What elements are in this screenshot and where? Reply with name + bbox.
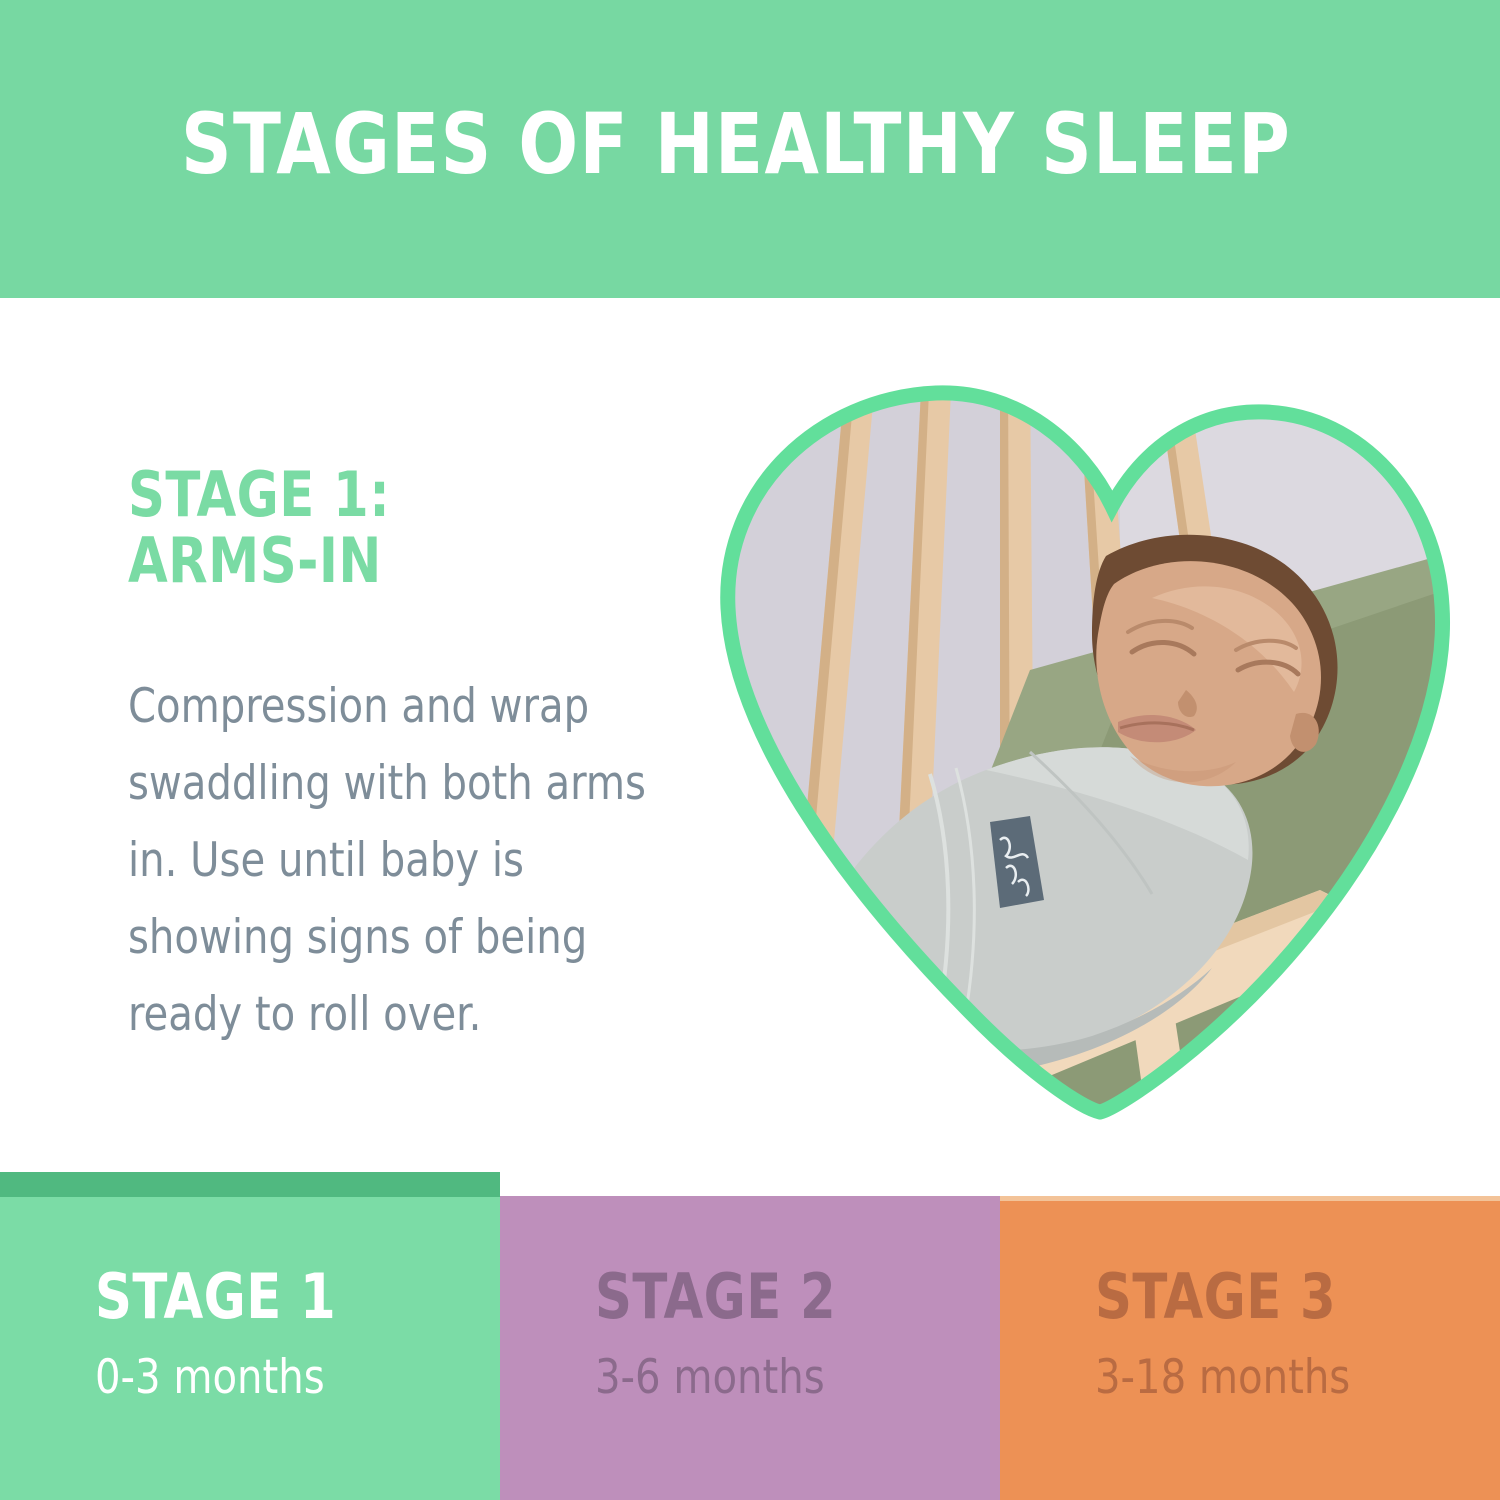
heart-photo (700, 370, 1460, 1130)
stage-1-content: STAGE 1 0-3 months (95, 1264, 357, 1406)
stage-heading: STAGE 1: ARMS-IN (128, 462, 643, 594)
stage-bar-column-stage-3[interactable]: STAGE 3 3-18 months (1000, 1196, 1500, 1500)
page-title: STAGES OF HEALTHY SLEEP (181, 96, 1278, 192)
header-band: STAGES OF HEALTHY SLEEP (0, 0, 1500, 298)
stage-2-content: STAGE 2 3-6 months (595, 1264, 857, 1406)
stage-3-content: STAGE 3 3-18 months (1095, 1264, 1364, 1406)
stage-1-active-strip (0, 1172, 500, 1197)
photo-content (700, 370, 1460, 1130)
stage-1-age-range: 0-3 months (95, 1350, 344, 1406)
stage-3-age-range: 3-18 months (1095, 1350, 1350, 1406)
stage-bar-column-stage-1[interactable]: STAGE 1 0-3 months (0, 1172, 500, 1500)
infographic-page: STAGES OF HEALTHY SLEEP STAGE 1: ARMS-IN… (0, 0, 1500, 1500)
stage-2-title: STAGE 2 (595, 1264, 836, 1330)
stage-heading-line-1: STAGE 1: (128, 462, 643, 528)
stage-3-top-strip (1000, 1196, 1500, 1201)
stage-heading-line-2: ARMS-IN (128, 528, 643, 594)
stage-2-age-range: 3-6 months (595, 1350, 844, 1406)
stage-bar-column-stage-2[interactable]: STAGE 2 3-6 months (500, 1196, 1000, 1500)
stage-1-title: STAGE 1 (95, 1264, 336, 1330)
stage-description: Compression and wrap swaddling with both… (128, 668, 698, 1053)
stage-3-title: STAGE 3 (1095, 1264, 1342, 1330)
